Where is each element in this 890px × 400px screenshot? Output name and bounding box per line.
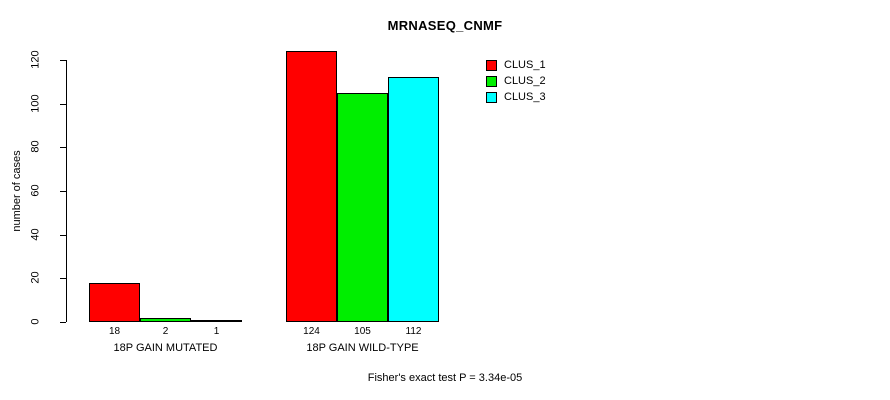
legend: CLUS_1CLUS_2CLUS_3 [486,57,546,105]
y-axis-tick [60,104,66,105]
y-axis-tick-label-text: 100 [31,83,42,123]
page-title: MRNASEQ_CNMF [0,18,890,33]
y-axis-tick-label-text: 60 [31,171,42,211]
legend-label: CLUS_3 [504,91,546,103]
bar-value-label: 105 [337,326,388,337]
barplot-figure: MRNASEQ_CNMF 020406080100120 number of c… [0,0,890,400]
statistical-annotation: Fisher's exact test P = 3.34e-05 [0,372,890,384]
y-axis-tick-label-text: 40 [31,214,42,254]
y-axis-tick-label: 120 [12,54,56,66]
group-label: 18P GAIN WILD-TYPE [246,342,479,354]
bar-value-label: 1 [191,326,242,337]
bar [286,51,337,322]
legend-item: CLUS_1 [486,57,546,73]
bar [388,77,439,322]
legend-item: CLUS_3 [486,89,546,105]
bar-value-label: 18 [89,326,140,337]
y-axis-tick-label: 100 [12,98,56,110]
y-axis-tick [60,235,66,236]
bar [89,283,140,322]
legend-label: CLUS_2 [504,75,546,87]
y-axis-tick [60,278,66,279]
bar [337,93,388,322]
y-axis-tick-label-text: 20 [31,258,42,298]
bar-value-label: 2 [140,326,191,337]
y-axis-tick-label: 20 [12,272,56,284]
legend-swatch-icon [486,60,497,71]
bar-value-label: 124 [286,326,337,337]
y-axis-tick-label: 0 [12,316,56,328]
bar-value-label: 112 [388,326,439,337]
legend-swatch-icon [486,76,497,87]
y-axis-tick [60,322,66,323]
legend-swatch-icon [486,92,497,103]
y-axis-tick-label-text: 80 [31,127,42,167]
y-axis-title: number of cases [11,136,23,246]
bar [140,318,191,322]
y-axis-tick-label-text: 120 [31,40,42,80]
y-axis-tick [60,147,66,148]
legend-item: CLUS_2 [486,73,546,89]
y-axis-tick-label-text: 0 [31,302,42,342]
y-axis-tick [60,60,66,61]
y-axis-line [66,60,67,322]
y-axis-tick [60,191,66,192]
legend-label: CLUS_1 [504,59,546,71]
bar [191,320,242,322]
